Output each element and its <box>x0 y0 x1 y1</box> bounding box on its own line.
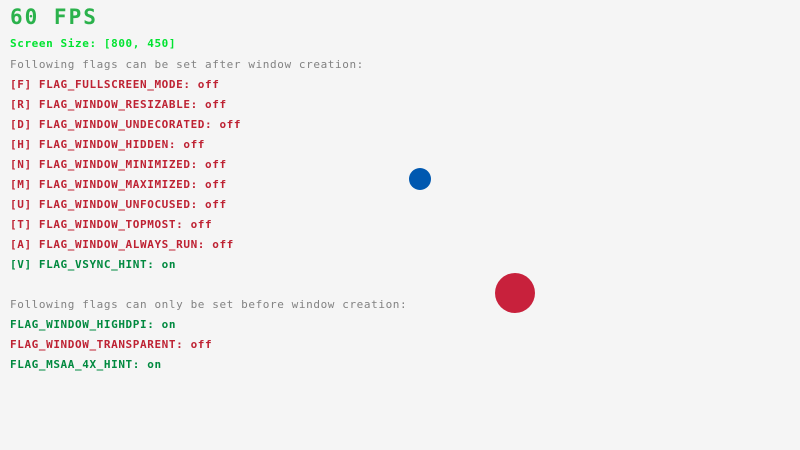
flag-row-flag-window-always-run[interactable]: [A] FLAG_WINDOW_ALWAYS_RUN: off <box>10 239 234 250</box>
flag-row-flag-fullscreen-mode[interactable]: [F] FLAG_FULLSCREEN_MODE: off <box>10 79 219 90</box>
flag-row-flag-window-maximized[interactable]: [M] FLAG_WINDOW_MAXIMIZED: off <box>10 179 227 190</box>
flag-row-flag-window-highdpi[interactable]: FLAG_WINDOW_HIGHDPI: on <box>10 319 176 330</box>
flag-row-flag-vsync-hint[interactable]: [V] FLAG_VSYNC_HINT: on <box>10 259 176 270</box>
flag-row-flag-window-undecorated[interactable]: [D] FLAG_WINDOW_UNDECORATED: off <box>10 119 241 130</box>
flag-row-flag-window-hidden[interactable]: [H] FLAG_WINDOW_HIDDEN: off <box>10 139 205 150</box>
flag-row-flag-msaa-4x-hint[interactable]: FLAG_MSAA_4X_HINT: on <box>10 359 162 370</box>
flag-row-flag-window-transparent[interactable]: FLAG_WINDOW_TRANSPARENT: off <box>10 339 212 350</box>
pre-creation-section-header: Following flags can only be set before w… <box>10 299 407 310</box>
flag-row-flag-window-topmost[interactable]: [T] FLAG_WINDOW_TOPMOST: off <box>10 219 212 230</box>
flag-row-flag-window-minimized[interactable]: [N] FLAG_WINDOW_MINIMIZED: off <box>10 159 227 170</box>
flag-row-flag-window-resizable[interactable]: [R] FLAG_WINDOW_RESIZABLE: off <box>10 99 227 110</box>
flag-row-flag-window-unfocused[interactable]: [U] FLAG_WINDOW_UNFOCUSED: off <box>10 199 227 210</box>
red-ball <box>495 273 535 313</box>
fps-counter: 60 FPS <box>10 7 98 28</box>
raylib-window-canvas[interactable]: 60 FPS Screen Size: [800, 450] Following… <box>0 0 800 450</box>
blue-ball <box>409 168 431 190</box>
post-creation-section-header: Following flags can be set after window … <box>10 59 364 70</box>
screen-size-label: Screen Size: [800, 450] <box>10 38 176 49</box>
